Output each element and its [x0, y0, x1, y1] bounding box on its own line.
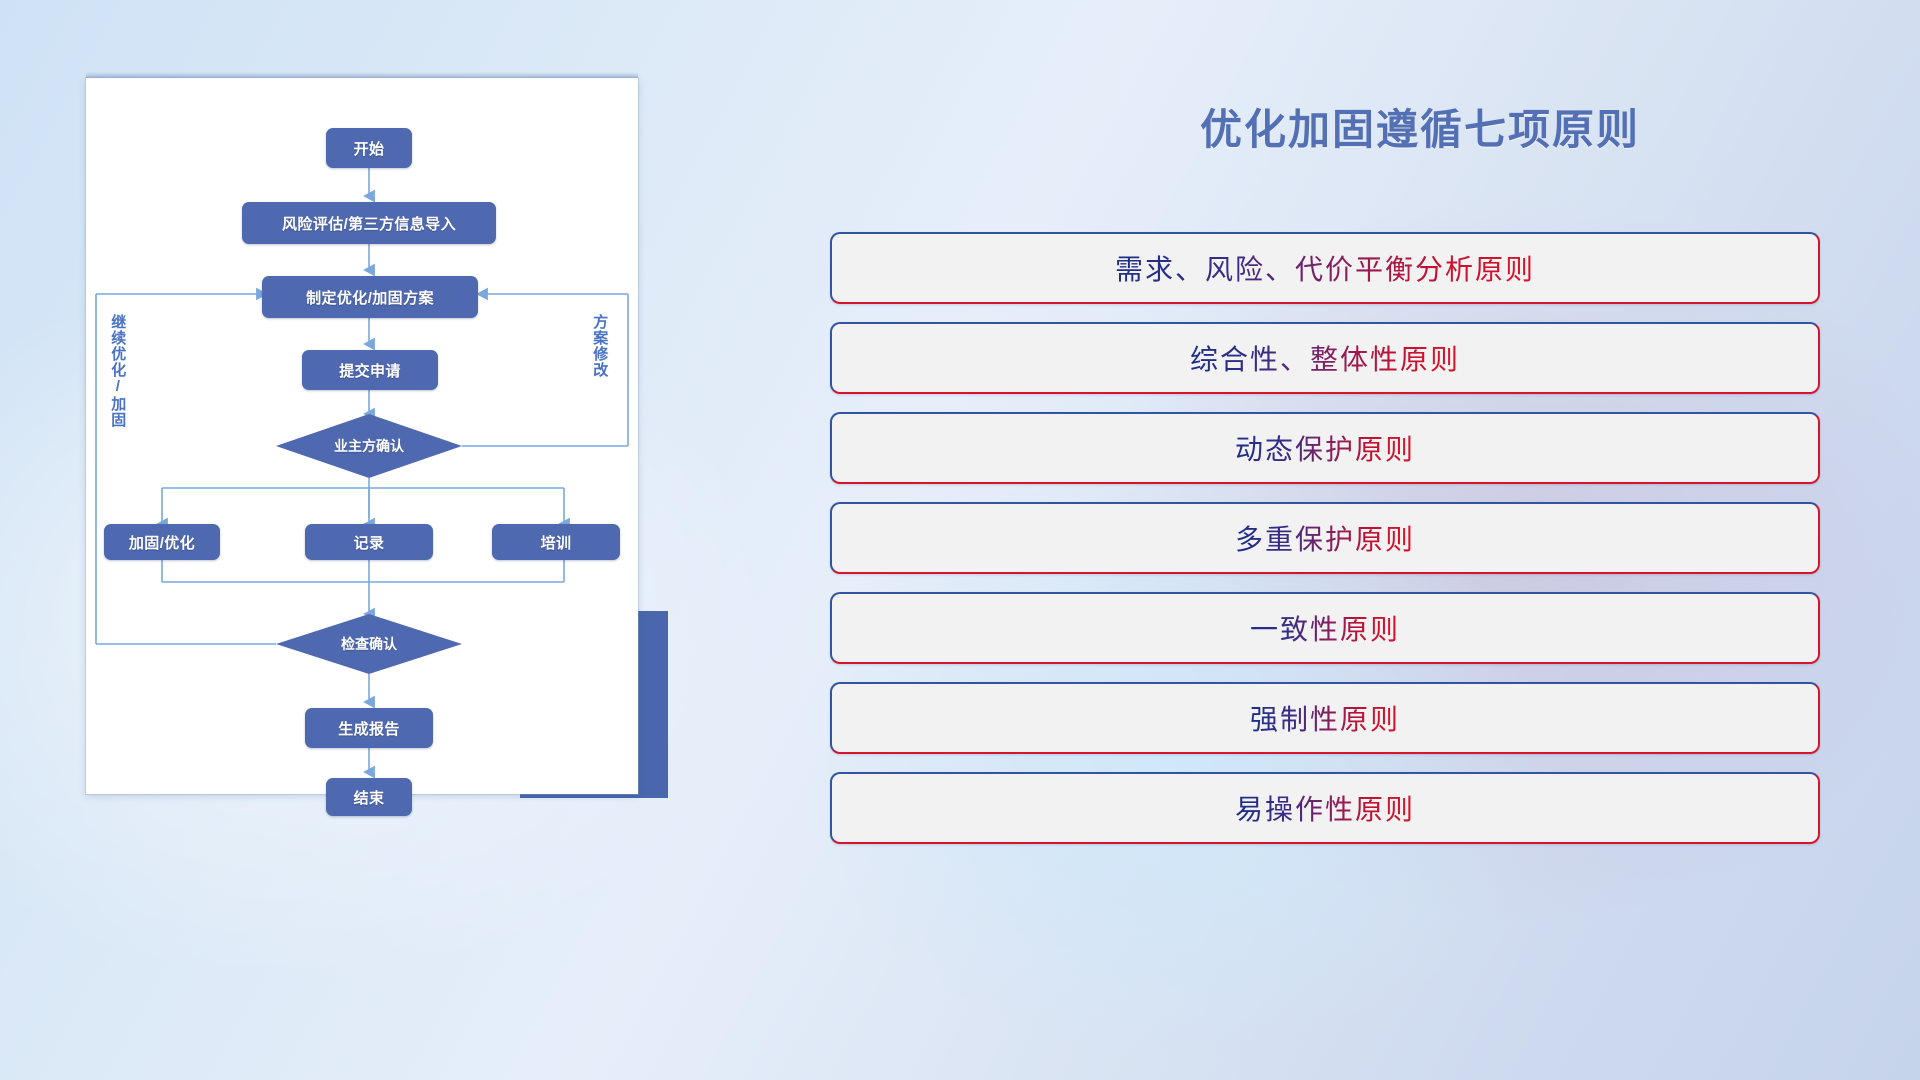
principle-card-2[interactable]: 综合性、整体性原则: [830, 322, 1820, 394]
page-title: 优化加固遵循七项原则: [1020, 96, 1820, 157]
principles-panel: 优化加固遵循七项原则 需求、风险、代价平衡分析原则 综合性、整体性原则 动态保护…: [1020, 80, 1820, 1000]
principle-label: 一致性原则: [1250, 608, 1400, 648]
flow-node-generate-report[interactable]: 生成报告: [305, 708, 433, 748]
principle-card-1[interactable]: 需求、风险、代价平衡分析原则: [830, 232, 1820, 304]
flow-node-end[interactable]: 结束: [326, 778, 412, 816]
flow-node-check-confirm[interactable]: 检查确认: [276, 614, 462, 674]
flowchart-card: 开始 风险评估/第三方信息导入 制定优化/加固方案 提交申请 业主方确认 加固/…: [86, 78, 638, 794]
principle-label: 综合性、整体性原则: [1190, 338, 1460, 378]
principle-card-6[interactable]: 强制性原则: [830, 682, 1820, 754]
principle-label: 易操作性原则: [1235, 788, 1415, 828]
flow-node-record[interactable]: 记录: [305, 524, 433, 560]
flow-node-risk-assessment[interactable]: 风险评估/第三方信息导入: [242, 202, 496, 244]
flow-node-label: 生成报告: [338, 718, 400, 739]
flow-node-training[interactable]: 培训: [492, 524, 620, 560]
flow-node-label: 培训: [541, 532, 572, 553]
flow-node-label: 提交申请: [339, 360, 401, 381]
flow-node-start[interactable]: 开始: [326, 128, 412, 168]
flow-node-reinforce[interactable]: 加固/优化: [104, 524, 220, 560]
edge-label-plan-revision: 方案修改: [592, 314, 607, 378]
edge-label-continue-optimize: 继续优化/加固: [110, 314, 125, 428]
flow-node-owner-confirm[interactable]: 业主方确认: [276, 414, 462, 478]
flow-node-label: 检查确认: [276, 614, 462, 674]
flow-node-label: 记录: [354, 532, 385, 553]
principle-label: 多重保护原则: [1235, 518, 1415, 558]
flow-node-label: 开始: [354, 138, 385, 159]
principle-card-5[interactable]: 一致性原则: [830, 592, 1820, 664]
flow-node-submit-application[interactable]: 提交申请: [302, 350, 438, 390]
flow-node-label: 加固/优化: [129, 532, 195, 553]
flow-node-label: 业主方确认: [276, 414, 462, 478]
principle-card-7[interactable]: 易操作性原则: [830, 772, 1820, 844]
flow-node-label: 制定优化/加固方案: [306, 287, 434, 308]
principle-card-4[interactable]: 多重保护原则: [830, 502, 1820, 574]
flow-node-label: 风险评估/第三方信息导入: [282, 213, 456, 234]
principles-list: 需求、风险、代价平衡分析原则 综合性、整体性原则 动态保护原则 多重保护原则 一…: [830, 232, 1820, 862]
flow-node-label: 结束: [354, 787, 385, 808]
principle-label: 动态保护原则: [1235, 428, 1415, 468]
flowchart-panel: 开始 风险评估/第三方信息导入 制定优化/加固方案 提交申请 业主方确认 加固/…: [86, 78, 638, 794]
principle-label: 强制性原则: [1250, 698, 1400, 738]
principle-card-3[interactable]: 动态保护原则: [830, 412, 1820, 484]
principle-label: 需求、风险、代价平衡分析原则: [1115, 248, 1535, 288]
flow-node-plan[interactable]: 制定优化/加固方案: [262, 276, 478, 318]
